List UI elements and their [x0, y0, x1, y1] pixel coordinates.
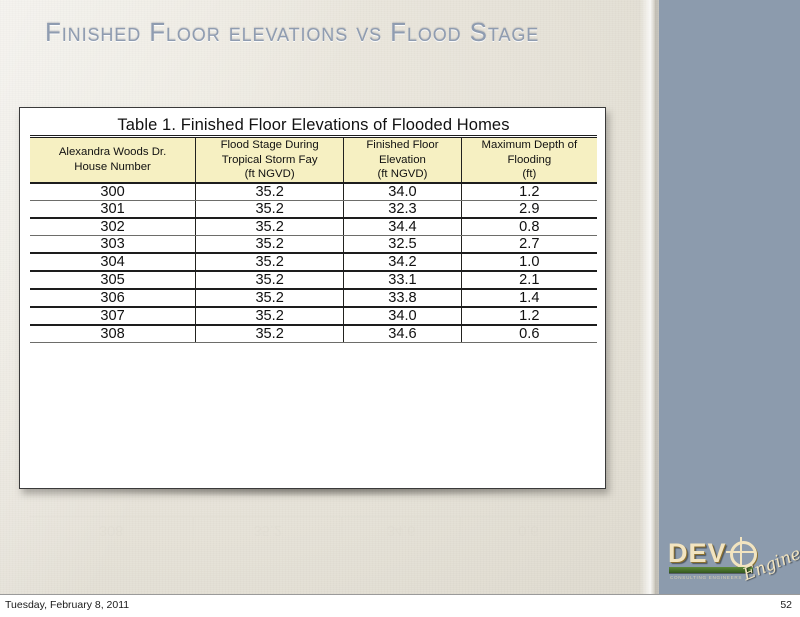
cell-max-depth: 1.2 — [461, 307, 597, 325]
header-line-1: Finished Floor — [344, 138, 460, 153]
slide-canvas: Finished Floor elevations vs Flood Stage… — [0, 0, 800, 594]
cell-finished-floor: 33.1 — [344, 271, 461, 289]
table-row: 308 35.2 34.6 0.6 — [30, 325, 597, 343]
footer-date: Tuesday, February 8, 2011 — [5, 599, 129, 611]
table-row: 301 35.2 32.3 2.9 — [30, 200, 597, 218]
slide-root: Finished Floor elevations vs Flood Stage… — [0, 0, 800, 616]
table-row: 307 35.2 34.0 1.2 — [30, 307, 597, 325]
slide-footer: Tuesday, February 8, 2011 52 — [0, 594, 800, 617]
cell-flood-stage: 35.2 — [196, 325, 344, 343]
cell-house-number: 306 — [30, 289, 196, 307]
footer-page-number: 52 — [780, 599, 792, 611]
cell-max-depth: 2.1 — [461, 271, 597, 289]
cell-house-number: 301 — [30, 200, 196, 218]
table-row: 302 35.2 34.4 0.8 — [30, 218, 597, 236]
cell-flood-stage: 35.2 — [196, 253, 344, 271]
cell-flood-stage: 35.2 — [196, 271, 344, 289]
header-line-3: (ft NGVD) — [196, 167, 343, 182]
header-line-3: (ft NGVD) — [344, 167, 460, 182]
cell-max-depth: 0.8 — [461, 218, 597, 236]
header-line-1: Alexandra Woods Dr. — [30, 145, 195, 160]
cell-house-number: 300 — [30, 183, 196, 201]
cell-finished-floor: 32.3 — [344, 200, 461, 218]
cell-house-number: 307 — [30, 307, 196, 325]
cell-flood-stage: 35.2 — [196, 200, 344, 218]
cell-max-depth: 2.9 — [461, 200, 597, 218]
cell-finished-floor: 34.4 — [344, 218, 461, 236]
cell-house-number: 302 — [30, 218, 196, 236]
logo-tagline: CONSULTING ENGINEERS — [670, 575, 742, 580]
header-line-3: (ft) — [462, 167, 597, 182]
cell-house-number: 305 — [30, 271, 196, 289]
table-row: 305 35.2 33.1 2.1 — [30, 271, 597, 289]
header-line-2: Elevation — [344, 153, 460, 168]
header-line-1: Maximum Depth of — [462, 138, 597, 153]
header-line-1: Flood Stage During — [196, 138, 343, 153]
cell-flood-stage: 35.2 — [196, 218, 344, 236]
cell-max-depth: 0.6 — [461, 325, 597, 343]
cell-finished-floor: 32.5 — [344, 235, 461, 253]
table-row: 300 35.2 34.0 1.2 — [30, 183, 597, 201]
cell-flood-stage: 35.2 — [196, 289, 344, 307]
column-header-max-depth: Maximum Depth of Flooding (ft) — [461, 137, 597, 183]
cell-flood-stage: 35.2 — [196, 183, 344, 201]
table-caption: Table 1. Finished Floor Elevations of Fl… — [30, 116, 597, 137]
cell-max-depth: 1.2 — [461, 183, 597, 201]
cell-max-depth: 1.0 — [461, 253, 597, 271]
table-caption-row: Table 1. Finished Floor Elevations of Fl… — [30, 116, 597, 137]
header-line-2: House Number — [30, 160, 195, 175]
cell-flood-stage: 35.2 — [196, 307, 344, 325]
table-header-row: Alexandra Woods Dr. House Number Flood S… — [30, 137, 597, 183]
cell-finished-floor: 34.6 — [344, 325, 461, 343]
table-row: 304 35.2 34.2 1.0 — [30, 253, 597, 271]
column-header-finished-floor: Finished Floor Elevation (ft NGVD) — [344, 137, 461, 183]
cell-flood-stage: 35.2 — [196, 235, 344, 253]
table-card: Table 1. Finished Floor Elevations of Fl… — [19, 107, 606, 489]
cell-house-number: 304 — [30, 253, 196, 271]
devo-engineering-logo: DEV CONSULTING ENGINEERS Engineering — [668, 536, 790, 586]
column-header-house-number: Alexandra Woods Dr. House Number — [30, 137, 196, 183]
logo-wordmark: DEV — [668, 538, 727, 569]
slide-title: Finished Floor elevations vs Flood Stage — [45, 16, 625, 49]
cell-finished-floor: 34.2 — [344, 253, 461, 271]
cell-max-depth: 1.4 — [461, 289, 597, 307]
flood-elevation-table: Table 1. Finished Floor Elevations of Fl… — [30, 116, 597, 343]
table-row: 306 35.2 33.8 1.4 — [30, 289, 597, 307]
cell-house-number: 303 — [30, 235, 196, 253]
cell-finished-floor: 34.0 — [344, 307, 461, 325]
column-header-flood-stage: Flood Stage During Tropical Storm Fay (f… — [196, 137, 344, 183]
table-row: 303 35.2 32.5 2.7 — [30, 235, 597, 253]
cell-finished-floor: 33.8 — [344, 289, 461, 307]
cell-max-depth: 2.7 — [461, 235, 597, 253]
header-line-2: Tropical Storm Fay — [196, 153, 343, 168]
header-line-2: Flooding — [462, 153, 597, 168]
cell-house-number: 308 — [30, 325, 196, 343]
cell-finished-floor: 34.0 — [344, 183, 461, 201]
